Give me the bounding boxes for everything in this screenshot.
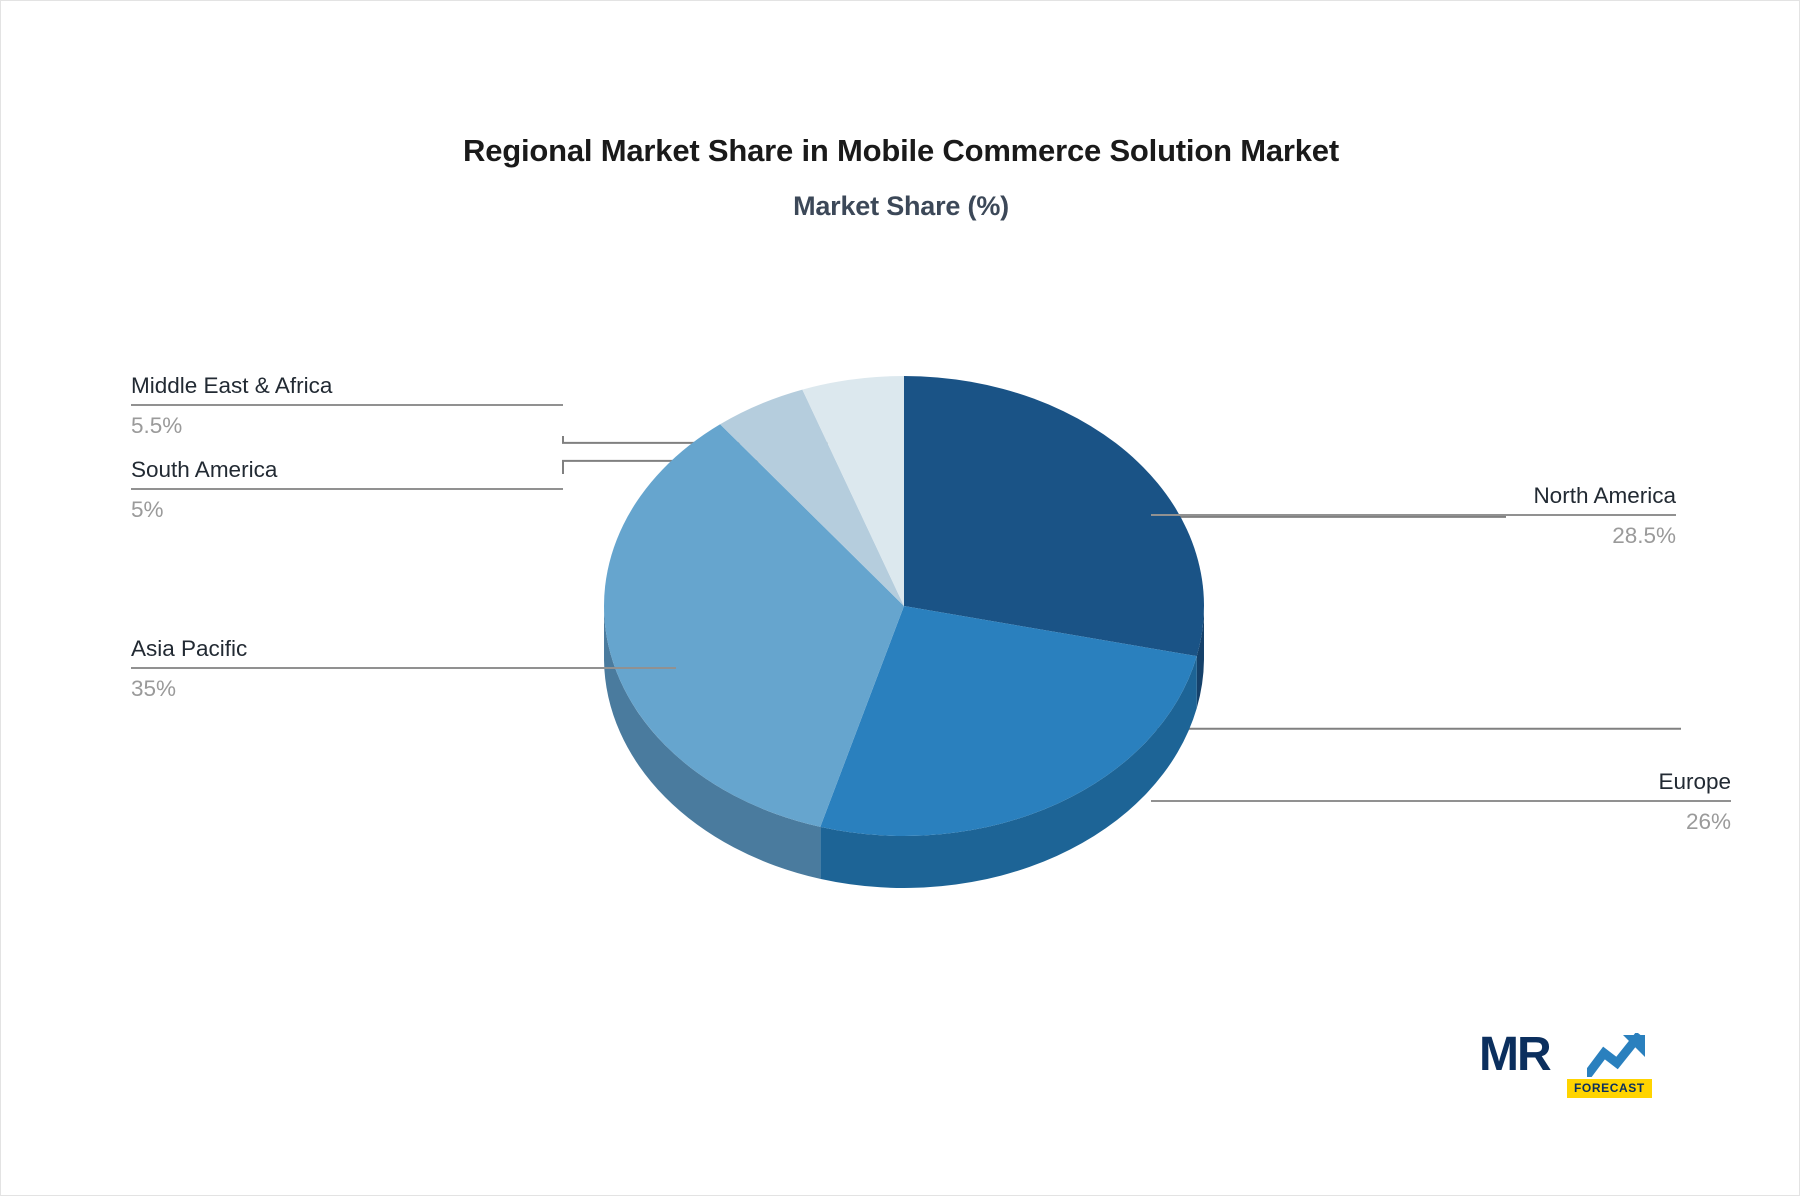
callout-value-north-america: 28.5% <box>1151 516 1676 549</box>
callout-value-south-america: 5% <box>131 490 563 523</box>
logo-wordmark: MR <box>1479 1029 1550 1081</box>
chart-canvas: Regional Market Share in Mobile Commerce… <box>0 0 1800 1196</box>
callout-north-america: North America 28.5% <box>1151 483 1676 549</box>
callout-value-asia-pacific: 35% <box>131 669 676 702</box>
growth-arrow-icon <box>1587 1033 1649 1077</box>
callout-asia-pacific: Asia Pacific 35% <box>131 636 676 702</box>
callout-label-north-america: North America <box>1151 483 1676 514</box>
callout-south-america: South America 5% <box>131 457 563 523</box>
pie-svg <box>584 376 1224 956</box>
callout-label-south-america: South America <box>131 457 563 488</box>
brand-logo: MR FORECAST <box>1479 1029 1651 1111</box>
logo-badge: FORECAST <box>1567 1079 1652 1098</box>
callout-label-middle-east-africa: Middle East & Africa <box>131 373 563 404</box>
callout-value-europe: 26% <box>1151 802 1731 835</box>
callout-label-europe: Europe <box>1151 769 1731 800</box>
callout-label-asia-pacific: Asia Pacific <box>131 636 676 667</box>
chart-title: Regional Market Share in Mobile Commerce… <box>1 133 1800 169</box>
chart-subtitle: Market Share (%) <box>1 191 1800 222</box>
pie-top <box>604 376 1204 836</box>
callout-europe: Europe 26% <box>1151 769 1731 835</box>
callout-middle-east-africa: Middle East & Africa 5.5% <box>131 373 563 439</box>
callout-value-middle-east-africa: 5.5% <box>131 406 563 439</box>
pie-chart <box>584 376 1224 956</box>
